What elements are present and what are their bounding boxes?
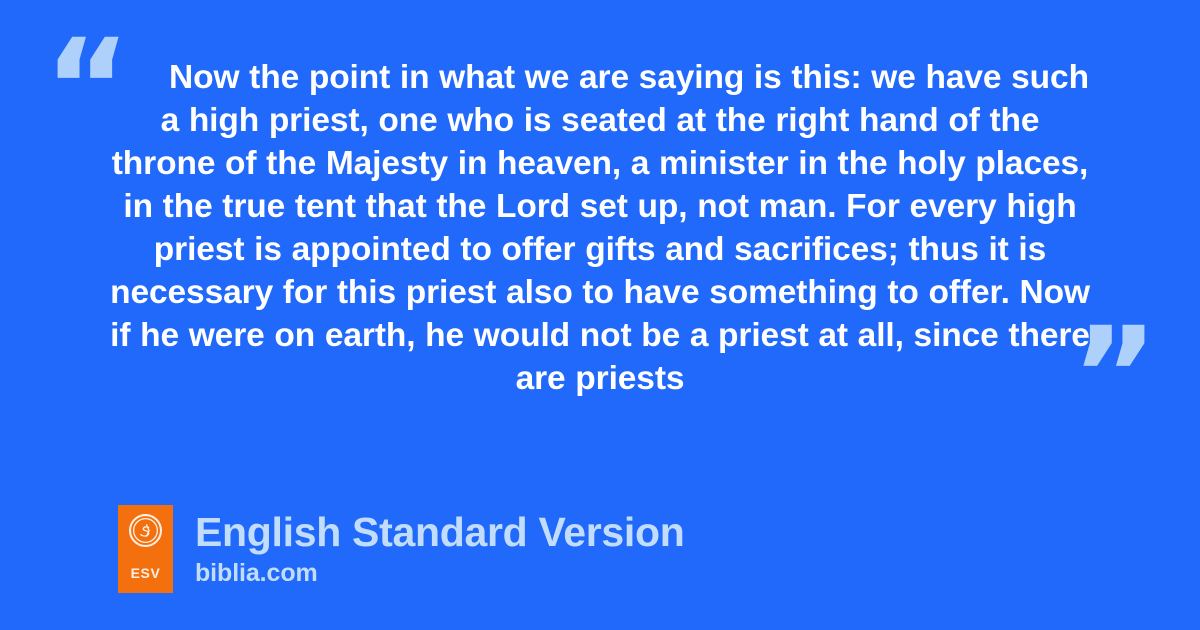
attribution-text: English Standard Version biblia.com (195, 505, 684, 588)
esv-logo-badge: ESV (118, 505, 173, 593)
closing-quote-icon: ” (1071, 310, 1156, 442)
quote-region: Now the point in what we are saying is t… (0, 56, 1200, 436)
quote-card: “ Now the point in what we are saying is… (0, 0, 1200, 630)
esv-abbreviation-label: ESV (118, 566, 173, 580)
attribution: ESV English Standard Version biblia.com (118, 505, 684, 593)
esv-seal-icon (129, 514, 162, 547)
site-name: biblia.com (195, 558, 684, 588)
quote-text: Now the point in what we are saying is t… (105, 56, 1095, 400)
bible-version-name: English Standard Version (195, 507, 684, 557)
